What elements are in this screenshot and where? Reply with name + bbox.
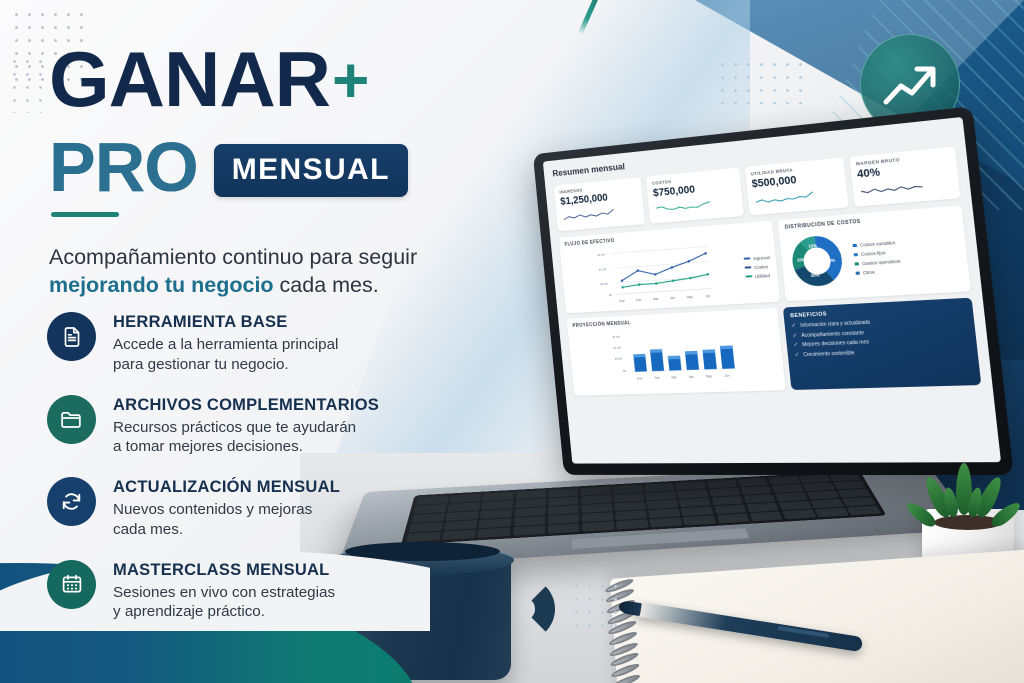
laptop-screen: Resumen mensual INGRESOS $1,250,000 COST… xyxy=(543,117,1001,464)
brand-plus-icon: + xyxy=(332,48,369,112)
svg-text:Ene: Ene xyxy=(637,376,643,380)
benefit-label: Crecimiento sostenible xyxy=(803,350,855,358)
subtitle-highlight: mejorando tu negocio xyxy=(49,273,274,297)
feature-desc-line-1: Accede a la herramienta principal xyxy=(113,336,338,353)
svg-text:Abr: Abr xyxy=(689,375,694,379)
distribution-legend: Costos variables Costos fijos Gastos ope… xyxy=(853,240,902,276)
svg-text:$0.5M: $0.5M xyxy=(614,356,622,360)
check-icon: ✓ xyxy=(793,342,799,348)
feature-icon-wrapper xyxy=(47,560,96,609)
kpi-card-ingresos[interactable]: INGRESOS $1,250,000 xyxy=(554,177,646,231)
brand-name-ganar: GANAR xyxy=(49,44,330,116)
sparkline-icon xyxy=(753,190,817,206)
poster-canvas: Resumen mensual INGRESOS $1,250,000 COST… xyxy=(0,0,1024,683)
legend-label: Utilidad xyxy=(755,273,770,279)
svg-text:10%: 10% xyxy=(809,243,819,249)
projection-card[interactable]: PROYECCIÓN MENSUAL $1.5M $1.0M $0.5M $0 xyxy=(567,308,786,396)
legend-label: Gastos operativos xyxy=(862,258,901,266)
feature-desc-line-2: y aprendizaje práctico. xyxy=(113,603,265,620)
dot-grid-desk xyxy=(570,580,624,628)
benefit-label: Mejores decisiones cada mes xyxy=(802,339,869,348)
feature-desc-line-1: Sesiones en vivo con estrategias xyxy=(113,584,335,601)
svg-text:Abr: Abr xyxy=(670,296,676,300)
feature-desc: Recursos prácticos que te ayudarán a tom… xyxy=(113,418,379,458)
svg-text:Mar: Mar xyxy=(671,375,677,379)
dashboard-bottom-row: PROYECCIÓN MENSUAL $1.5M $1.0M $0.5M $0 xyxy=(567,298,982,396)
folder-icon xyxy=(59,407,84,432)
legend-label: Costos xyxy=(754,264,768,270)
dashboard: Resumen mensual INGRESOS $1,250,000 COST… xyxy=(543,117,1001,464)
svg-text:$0.5M: $0.5M xyxy=(600,282,608,287)
legend-label: Otros xyxy=(863,270,875,276)
subtitle-line-2-tail: cada mes. xyxy=(274,273,379,297)
left-content-column: GANAR + PRO MENSUAL Acompañamiento conti… xyxy=(0,0,520,683)
legend-item: Gastos operativos xyxy=(855,258,901,266)
sparkline-icon xyxy=(654,199,714,215)
feature-title: HERRAMIENTA BASE xyxy=(113,313,338,332)
cashflow-line-chart: $1.5M $1.0M $0.5M $0 xyxy=(565,237,748,308)
svg-text:May: May xyxy=(706,374,713,378)
feature-desc: Nuevos contenidos y mejoras cada mes. xyxy=(113,500,340,540)
feature-text: HERRAMIENTA BASE Accede a la herramienta… xyxy=(113,312,338,375)
svg-text:Jun: Jun xyxy=(705,294,711,298)
svg-text:Jun: Jun xyxy=(724,374,730,378)
svg-text:$0: $0 xyxy=(609,293,613,297)
projection-bar-chart: $1.5M $1.0M $0.5M $0 xyxy=(573,322,778,386)
feature-desc-line-2: cada mes. xyxy=(113,521,183,538)
document-icon xyxy=(60,325,84,349)
benefit-label: Información clara y actualizada xyxy=(800,320,870,329)
calendar-icon xyxy=(60,572,84,596)
legend-label: Costos variables xyxy=(860,240,896,248)
logo-line-2: PRO MENSUAL xyxy=(49,134,408,201)
kpi-card-utilidad-bruta[interactable]: UTILIDAD BRUTA $500,000 xyxy=(744,157,848,215)
svg-text:$0: $0 xyxy=(623,369,627,373)
legend-label: Ingresos xyxy=(753,254,771,260)
laptop-lid: Resumen mensual INGRESOS $1,250,000 COST… xyxy=(533,106,1014,475)
feature-item-herramienta-base[interactable]: HERRAMIENTA BASE Accede a la herramienta… xyxy=(47,312,467,375)
feature-text: ARCHIVOS COMPLEMENTARIOS Recursos prácti… xyxy=(113,395,379,458)
kpi-card-margen-bruto[interactable]: MARGEN BRUTO 40% xyxy=(849,146,960,206)
legend-item: Costos variables xyxy=(853,240,899,248)
feature-desc-line-1: Nuevos contenidos y mejoras xyxy=(113,501,312,518)
subtitle: Acompañamiento continuo para seguir mejo… xyxy=(49,243,479,300)
sparkline-icon xyxy=(858,180,926,197)
feature-title: MASTERCLASS MENSUAL xyxy=(113,561,335,580)
feature-title: ACTUALIZACIÓN MENSUAL xyxy=(113,478,340,497)
check-icon: ✓ xyxy=(791,323,797,329)
logo-underline xyxy=(51,212,119,217)
feature-desc-line-2: a tomar mejores decisiones. xyxy=(113,438,303,455)
feature-desc-line-1: Recursos prácticos que te ayudarán xyxy=(113,419,356,436)
legend-item: Otros xyxy=(856,268,902,276)
check-icon: ✓ xyxy=(792,333,798,339)
feature-title: ARCHIVOS COMPLEMENTARIOS xyxy=(113,396,379,415)
brand-name-pro: PRO xyxy=(49,134,198,201)
refresh-icon xyxy=(59,489,84,514)
brand-badge-mensual: MENSUAL xyxy=(214,144,408,197)
cost-donut-chart: 40% 30% 20% 10% xyxy=(785,229,854,294)
feature-item-actualizacion-mensual[interactable]: ACTUALIZACIÓN MENSUAL Nuevos contenidos … xyxy=(47,477,467,540)
svg-text:Feb: Feb xyxy=(654,376,660,380)
cashflow-card[interactable]: FLUJO DE EFECTIVO $1.5M $1.0M $0.5M xyxy=(559,221,781,314)
legend-label: Costos fijos xyxy=(861,250,886,257)
sparkline-icon xyxy=(561,207,617,222)
svg-text:$1.0M: $1.0M xyxy=(599,267,607,272)
dot-grid-top-right xyxy=(716,58,802,104)
pen xyxy=(634,601,864,652)
subtitle-line-1: Acompañamiento continuo para seguir xyxy=(49,245,417,269)
svg-text:20%: 20% xyxy=(797,257,806,263)
feature-item-archivos-complementarios[interactable]: ARCHIVOS COMPLEMENTARIOS Recursos prácti… xyxy=(47,395,467,458)
svg-text:May: May xyxy=(687,295,694,299)
feature-desc: Accede a la herramienta principal para g… xyxy=(113,335,338,375)
feature-text: MASTERCLASS MENSUAL Sesiones en vivo con… xyxy=(113,560,335,623)
svg-text:$1.0M: $1.0M xyxy=(613,345,621,349)
pen-clip xyxy=(777,626,829,638)
svg-text:40%: 40% xyxy=(827,257,837,263)
feature-icon-wrapper xyxy=(47,312,96,361)
feature-desc-line-2: para gestionar tu negocio. xyxy=(113,356,289,373)
legend-item: Costos xyxy=(744,263,771,270)
feature-text: ACTUALIZACIÓN MENSUAL Nuevos contenidos … xyxy=(113,477,340,540)
svg-text:Feb: Feb xyxy=(636,298,642,302)
feature-desc: Sesiones en vivo con estrategias y apren… xyxy=(113,583,335,623)
svg-text:$1.5M: $1.5M xyxy=(612,334,620,338)
legend-item: Costos fijos xyxy=(854,249,900,257)
feature-icon-wrapper xyxy=(47,395,96,444)
benefit-label: Acompañamiento constante xyxy=(801,330,864,339)
feature-item-masterclass-mensual[interactable]: MASTERCLASS MENSUAL Sesiones en vivo con… xyxy=(47,560,467,623)
cost-distribution-card[interactable]: DISTRIBUCIÓN DE COSTOS 40% xyxy=(778,205,971,301)
feature-icon-wrapper xyxy=(47,477,96,526)
benefits-panel[interactable]: BENEFICIOS ✓ Información clara y actuali… xyxy=(783,298,982,390)
legend-item: Ingresos xyxy=(743,254,770,261)
feature-list: HERRAMIENTA BASE Accede a la herramienta… xyxy=(47,312,467,642)
kpi-card-costos[interactable]: COSTOS $750,000 xyxy=(646,168,744,224)
cashflow-legend: Ingresos Costos Utilidad xyxy=(741,235,774,298)
check-icon: ✓ xyxy=(794,352,800,358)
trending-up-icon xyxy=(881,60,939,108)
logo-line-1: GANAR + xyxy=(49,44,369,116)
legend-item: Utilidad xyxy=(745,272,772,279)
svg-text:$1.5M: $1.5M xyxy=(597,253,605,258)
svg-text:Ene: Ene xyxy=(619,299,625,303)
svg-text:Mar: Mar xyxy=(653,297,660,301)
svg-text:30%: 30% xyxy=(811,272,821,278)
